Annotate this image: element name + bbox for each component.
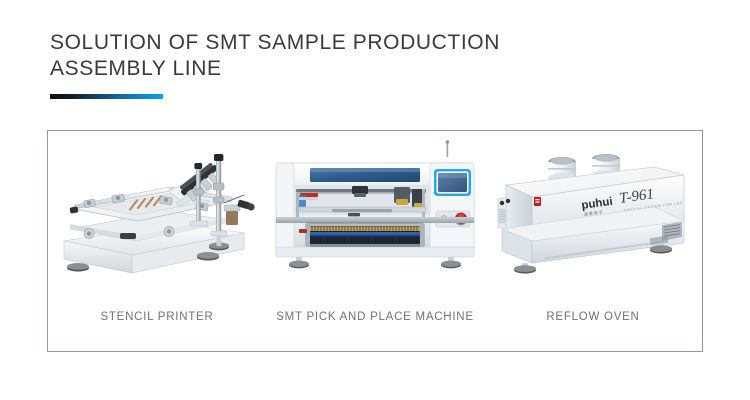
stencil-printer-image	[48, 137, 266, 297]
product-cell-pick-and-place[interactable]: SMT PICK AND PLACE MACHINE	[266, 131, 484, 351]
product-caption-reflow-oven: REFLOW OVEN	[484, 311, 702, 323]
product-grid: STENCIL PRINTER	[48, 131, 702, 351]
page-title: SOLUTION OF SMT SAMPLE PRODUCTION ASSEMB…	[50, 30, 670, 82]
product-caption-stencil-printer: STENCIL PRINTER	[48, 311, 266, 323]
product-cell-reflow-oven[interactable]: puhui 浦惠电子 T-961 SPECIAL DESIGN FOR LED	[484, 131, 702, 351]
page-title-line-2: ASSEMBLY LINE	[50, 56, 670, 82]
product-caption-pick-and-place: SMT PICK AND PLACE MACHINE	[266, 311, 484, 323]
reflow-oven-photo: puhui 浦惠电子 T-961 SPECIAL DESIGN FOR LED	[484, 137, 702, 297]
title-underline-rule	[50, 94, 163, 99]
reflow-oven-image: puhui 浦惠电子 T-961 SPECIAL DESIGN FOR LED	[484, 137, 702, 297]
pick-and-place-image	[266, 137, 484, 297]
stencil-printer-photo	[48, 137, 266, 297]
product-cell-stencil-printer[interactable]: STENCIL PRINTER	[48, 131, 266, 351]
pick-and-place-machine-photo	[266, 137, 484, 297]
page-title-line-1: SOLUTION OF SMT SAMPLE PRODUCTION	[50, 30, 670, 56]
product-showcase-panel: STENCIL PRINTER	[47, 130, 703, 352]
